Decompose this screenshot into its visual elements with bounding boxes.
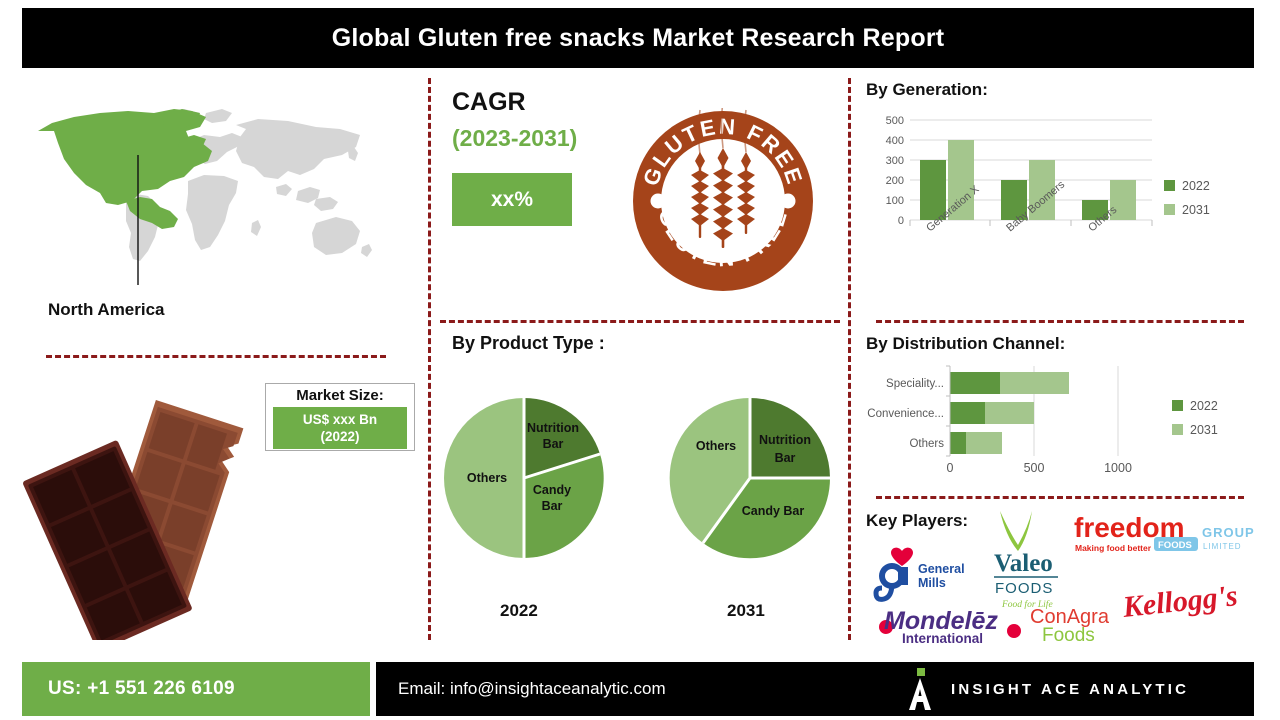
bar-others-2031 — [966, 432, 1002, 454]
freedom-line2: Making food better — [1075, 543, 1152, 553]
svg-text:500: 500 — [886, 115, 904, 127]
general-mills-line2: Mills — [918, 576, 946, 590]
x-tick-0: 0 — [947, 461, 954, 475]
pie-2022-year: 2022 — [500, 601, 538, 621]
legend-label-2022: 2022 — [1182, 179, 1210, 193]
legend-swatch-2031 — [1164, 204, 1175, 215]
world-map — [30, 95, 410, 285]
distribution-bar-chart: Speciality... Convenience... Others 0 50… — [860, 360, 1252, 490]
pie-2031-label-candy: Candy Bar — [742, 504, 805, 518]
market-size-amount: US$ xxx Bn — [303, 411, 377, 428]
seal-dot-right — [781, 194, 796, 209]
pie-2022-label-candy-line1: Candy — [533, 483, 571, 497]
cagr-label: CAGR — [452, 88, 526, 117]
divider-vertical-right — [848, 78, 851, 640]
market-size-year: (2022) — [320, 428, 359, 445]
region-label: North America — [48, 300, 165, 320]
cagr-value: xx% — [491, 188, 533, 212]
divider-horizontal-left — [46, 355, 386, 358]
legend-swatch-2022 — [1164, 180, 1175, 191]
pie-2022-label-others: Others — [467, 471, 507, 485]
svg-text:400: 400 — [886, 135, 904, 147]
pie-2022-label-candy-line2: Bar — [542, 499, 563, 513]
infographic-page: Global Gluten free snacks Market Researc… — [0, 0, 1280, 720]
y-label-speciality: Speciality... — [886, 378, 944, 390]
market-size-title: Market Size: — [296, 387, 384, 405]
pie-2022-label-nutrition-line2: Bar — [543, 437, 564, 451]
x-tick-1000: 1000 — [1104, 461, 1132, 475]
footer-phone-bar: US: +1 551 226 6109 — [22, 662, 370, 716]
kelloggs-logo: Kellogg's — [1120, 579, 1239, 624]
svg-text:100: 100 — [886, 195, 904, 207]
divider-horizontal-right-2 — [876, 496, 1244, 499]
pie-2031-label-nutrition-line2: Bar — [775, 451, 796, 465]
conagra-line2: Foods — [1042, 625, 1095, 645]
valeo-line1: Valeo — [994, 550, 1053, 577]
svg-text:300: 300 — [886, 155, 904, 167]
key-players-svg: General Mills Valeo FOODS Food for Life … — [862, 505, 1254, 645]
mondelez-line2: International — [902, 631, 983, 645]
freedom-foods-logo: freedom Making food better FOODS GROUP L… — [1074, 512, 1254, 553]
svg-text:200: 200 — [886, 175, 904, 187]
bar-speciality-2031 — [1000, 372, 1069, 394]
general-mills-line1: General — [918, 562, 965, 576]
cagr-years: (2023-2031) — [452, 125, 577, 152]
bar-speciality-2022 — [950, 372, 1000, 394]
bar-convenience-2031 — [985, 402, 1034, 424]
general-mills-logo: General Mills — [876, 548, 965, 600]
footer-phone: US: +1 551 226 6109 — [48, 678, 235, 700]
brand-name: INSIGHT ACE ANALYTIC — [951, 681, 1189, 698]
insight-ace-a-icon — [905, 668, 935, 710]
svg-text:0: 0 — [898, 215, 904, 227]
generation-chart-title: By Generation: — [866, 80, 988, 100]
page-title: Global Gluten free snacks Market Researc… — [332, 24, 945, 53]
gluten-free-seal-svg: GLUTEN FREE GLUTEN FREE — [630, 108, 816, 294]
chocolate-svg — [18, 390, 268, 640]
footer-email: Email: info@insightaceanalytic.com — [398, 679, 666, 699]
divider-horizontal-right-1 — [876, 320, 1244, 323]
valeo-foods-logo: Valeo FOODS Food for Life — [994, 511, 1058, 610]
map-highlight-north-america — [38, 109, 212, 229]
market-size-box: Market Size: US$ xxx Bn (2022) — [265, 383, 415, 451]
product-type-title: By Product Type : — [452, 333, 605, 354]
pie-chart-2031: Nutrition Bar Candy Bar Others — [655, 378, 845, 590]
pie-2031-svg: Nutrition Bar Candy Bar Others — [655, 378, 845, 590]
y-label-others: Others — [909, 438, 944, 450]
pie-2022-svg: Nutrition Bar Candy Bar Others — [429, 378, 619, 590]
pie-2031-label-nutrition-line1: Nutrition — [759, 433, 811, 447]
seal-dot-left — [651, 194, 666, 209]
y-axis-ticks: 500 400 300 200 100 0 — [886, 115, 904, 227]
brand-logo: INSIGHT ACE ANALYTIC — [905, 668, 1189, 710]
chocolate-bars-illustration — [18, 390, 268, 640]
x-tick-500: 500 — [1024, 461, 1045, 475]
legend-swatch-2022 — [1172, 400, 1183, 411]
legend-swatch-2031 — [1172, 424, 1183, 435]
market-size-value-badge: US$ xxx Bn (2022) — [273, 407, 407, 449]
pie-2022-label-nutrition-line1: Nutrition — [527, 421, 579, 435]
cagr-value-badge: xx% — [452, 173, 572, 226]
freedom-line3: FOODS — [1158, 540, 1192, 551]
pie-2031-year: 2031 — [727, 601, 765, 621]
distribution-chart-svg: Speciality... Convenience... Others 0 50… — [860, 360, 1252, 490]
kelloggs-line1: Kellogg's — [1120, 579, 1239, 624]
bar-others-2022 — [950, 432, 966, 454]
generation-bar-chart: 500 400 300 200 100 0 — [852, 104, 1252, 304]
pie-chart-2022: Nutrition Bar Candy Bar Others — [429, 378, 619, 590]
world-map-svg — [30, 95, 410, 285]
legend-label-2031: 2031 — [1182, 203, 1210, 217]
valeo-line2: FOODS — [995, 580, 1053, 597]
conagra-foods-logo: ConAgra Foods — [1030, 606, 1110, 645]
freedom-line4: GROUP — [1202, 525, 1254, 540]
legend-label-2031: 2031 — [1190, 423, 1218, 437]
freedom-line5: LIMITED — [1203, 542, 1242, 551]
divider-horizontal-middle — [440, 320, 840, 323]
mondelez-logo: Mondelēz International — [879, 607, 1021, 645]
y-label-convenience: Convenience... — [867, 408, 944, 420]
distribution-chart-title: By Distribution Channel: — [866, 334, 1065, 354]
gluten-free-seal-icon: GLUTEN FREE GLUTEN FREE — [630, 108, 816, 294]
pie-2031-label-others: Others — [696, 439, 736, 453]
legend-label-2022: 2022 — [1190, 399, 1218, 413]
generation-chart-svg: 500 400 300 200 100 0 — [852, 104, 1252, 304]
bar-convenience-2022 — [950, 402, 985, 424]
report-header: Global Gluten free snacks Market Researc… — [22, 8, 1254, 68]
key-players-logos: General Mills Valeo FOODS Food for Life … — [862, 505, 1254, 645]
